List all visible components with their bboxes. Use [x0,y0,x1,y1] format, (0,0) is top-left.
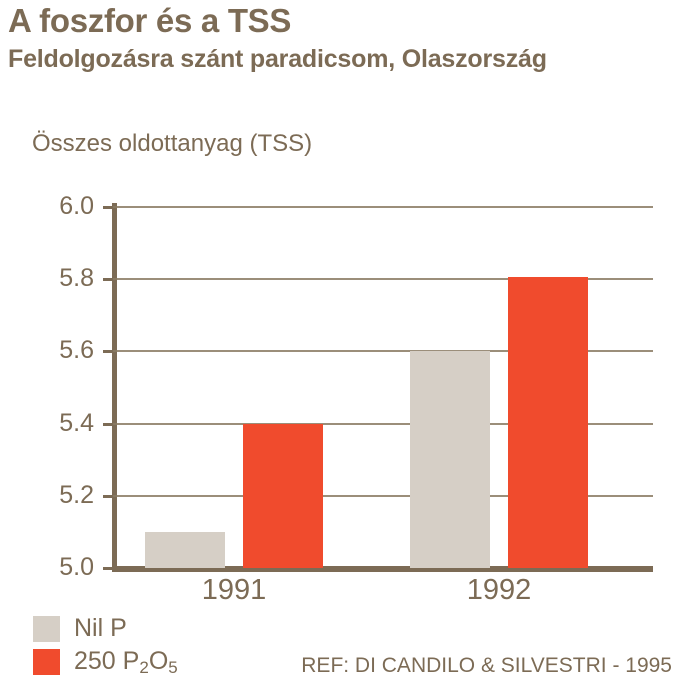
y-tick-label: 6.0 [32,192,94,221]
y-tick-label: 5.4 [32,409,94,438]
page-subtitle: Feldolgozásra szánt paradicsom, Olaszors… [8,45,547,74]
legend-label-prefix: 250 P [74,647,139,675]
legend-swatch-icon-nil-p [33,616,60,642]
legend-swatch-icon-250-p2o5 [33,649,60,675]
reference-citation: REF: DI CANDILO & SILVESTRI - 1995 [301,654,672,678]
bar-1991-250-p2o5 [243,424,323,568]
legend-label-sub-5: 5 [168,658,177,677]
x-tick-label-1991: 1991 [174,574,294,607]
page-title: A foszfor és a TSS [8,2,291,40]
plot-area [112,207,653,568]
legend-label-250-p2o5: 250 P2O5 [74,647,178,676]
y-tick-label: 5.6 [32,336,94,365]
y-tick-label: 5.0 [32,553,94,582]
bar-1992-250-p2o5 [508,277,588,568]
y-tick-label: 5.2 [32,481,94,510]
x-tick-label-1992: 1992 [439,574,559,607]
y-axis-title: Összes oldottanyag (TSS) [32,130,312,158]
chart-legend: Nil P 250 P2O5 [33,612,178,678]
bar-1992-nil-p [410,351,490,568]
legend-item-nil-p: Nil P [33,612,178,645]
legend-item-250-p2o5: 250 P2O5 [33,645,178,678]
bar-1991-nil-p [145,532,225,568]
legend-label-nil-p: Nil P [74,614,127,643]
y-tick-label: 5.8 [32,264,94,293]
legend-label-sub-2: 2 [139,658,148,677]
legend-label-mid-o: O [149,647,168,675]
